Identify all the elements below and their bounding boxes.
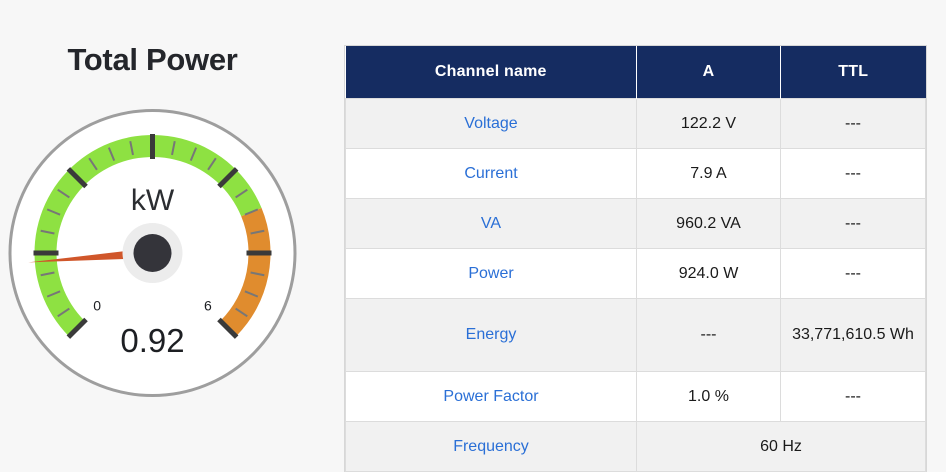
cell-value-a: --- — [637, 299, 781, 372]
cell-channel-name[interactable]: VA — [346, 199, 637, 249]
cell-channel-name[interactable]: Frequency — [346, 422, 637, 472]
cell-value-a: 924.0 W — [637, 249, 781, 299]
cell-value-a: 7.9 A — [637, 149, 781, 199]
page-title: Total Power — [0, 42, 305, 78]
table-body: Voltage122.2 V---Current7.9 A---VA960.2 … — [346, 99, 926, 472]
cell-value-a: 122.2 V — [637, 99, 781, 149]
cell-value-ttl: --- — [781, 99, 926, 149]
column-header-ttl[interactable]: TTL — [781, 46, 926, 99]
cell-value-ttl: 33,771,610.5 Wh — [781, 299, 926, 372]
cell-value-a: 1.0 % — [637, 372, 781, 422]
cell-channel-name[interactable]: Current — [346, 149, 637, 199]
channel-readings-table: Channel name A TTL Voltage122.2 V---Curr… — [345, 46, 926, 472]
cell-value-ttl: --- — [781, 372, 926, 422]
cell-value-a: 60 Hz — [637, 422, 926, 472]
total-power-gauge-panel: Total Power kW 0 6 0.92 — [0, 0, 330, 434]
cell-channel-name[interactable]: Power Factor — [346, 372, 637, 422]
gauge-unit-label: kW — [131, 184, 175, 217]
column-header-a[interactable]: A — [637, 46, 781, 99]
table-row[interactable]: Power Factor1.0 %--- — [346, 372, 926, 422]
table-row[interactable]: Energy---33,771,610.5 Wh — [346, 299, 926, 372]
cell-value-ttl: --- — [781, 249, 926, 299]
gauge-value-readout: 0.92 — [120, 322, 184, 359]
table-row[interactable]: Current7.9 A--- — [346, 149, 926, 199]
gauge-min-label: 0 — [93, 297, 101, 313]
table-header-row: Channel name A TTL — [346, 46, 926, 99]
cell-value-ttl: --- — [781, 149, 926, 199]
gauge-hub — [134, 234, 172, 272]
cell-channel-name[interactable]: Voltage — [346, 99, 637, 149]
gauge-widget: kW 0 6 0.92 — [0, 100, 310, 420]
table-row[interactable]: VA960.2 VA--- — [346, 199, 926, 249]
cell-value-a: 960.2 VA — [637, 199, 781, 249]
gauge-max-label: 6 — [204, 297, 212, 313]
cell-value-ttl: --- — [781, 199, 926, 249]
table-row[interactable]: Frequency60 Hz — [346, 422, 926, 472]
column-header-channel-name[interactable]: Channel name — [346, 46, 637, 99]
table-header: Channel name A TTL — [346, 46, 926, 99]
cell-channel-name[interactable]: Power — [346, 249, 637, 299]
table-row[interactable]: Voltage122.2 V--- — [346, 99, 926, 149]
table-row[interactable]: Power924.0 W--- — [346, 249, 926, 299]
gauge-svg: kW 0 6 0.92 — [0, 100, 310, 420]
cell-channel-name[interactable]: Energy — [346, 299, 637, 372]
